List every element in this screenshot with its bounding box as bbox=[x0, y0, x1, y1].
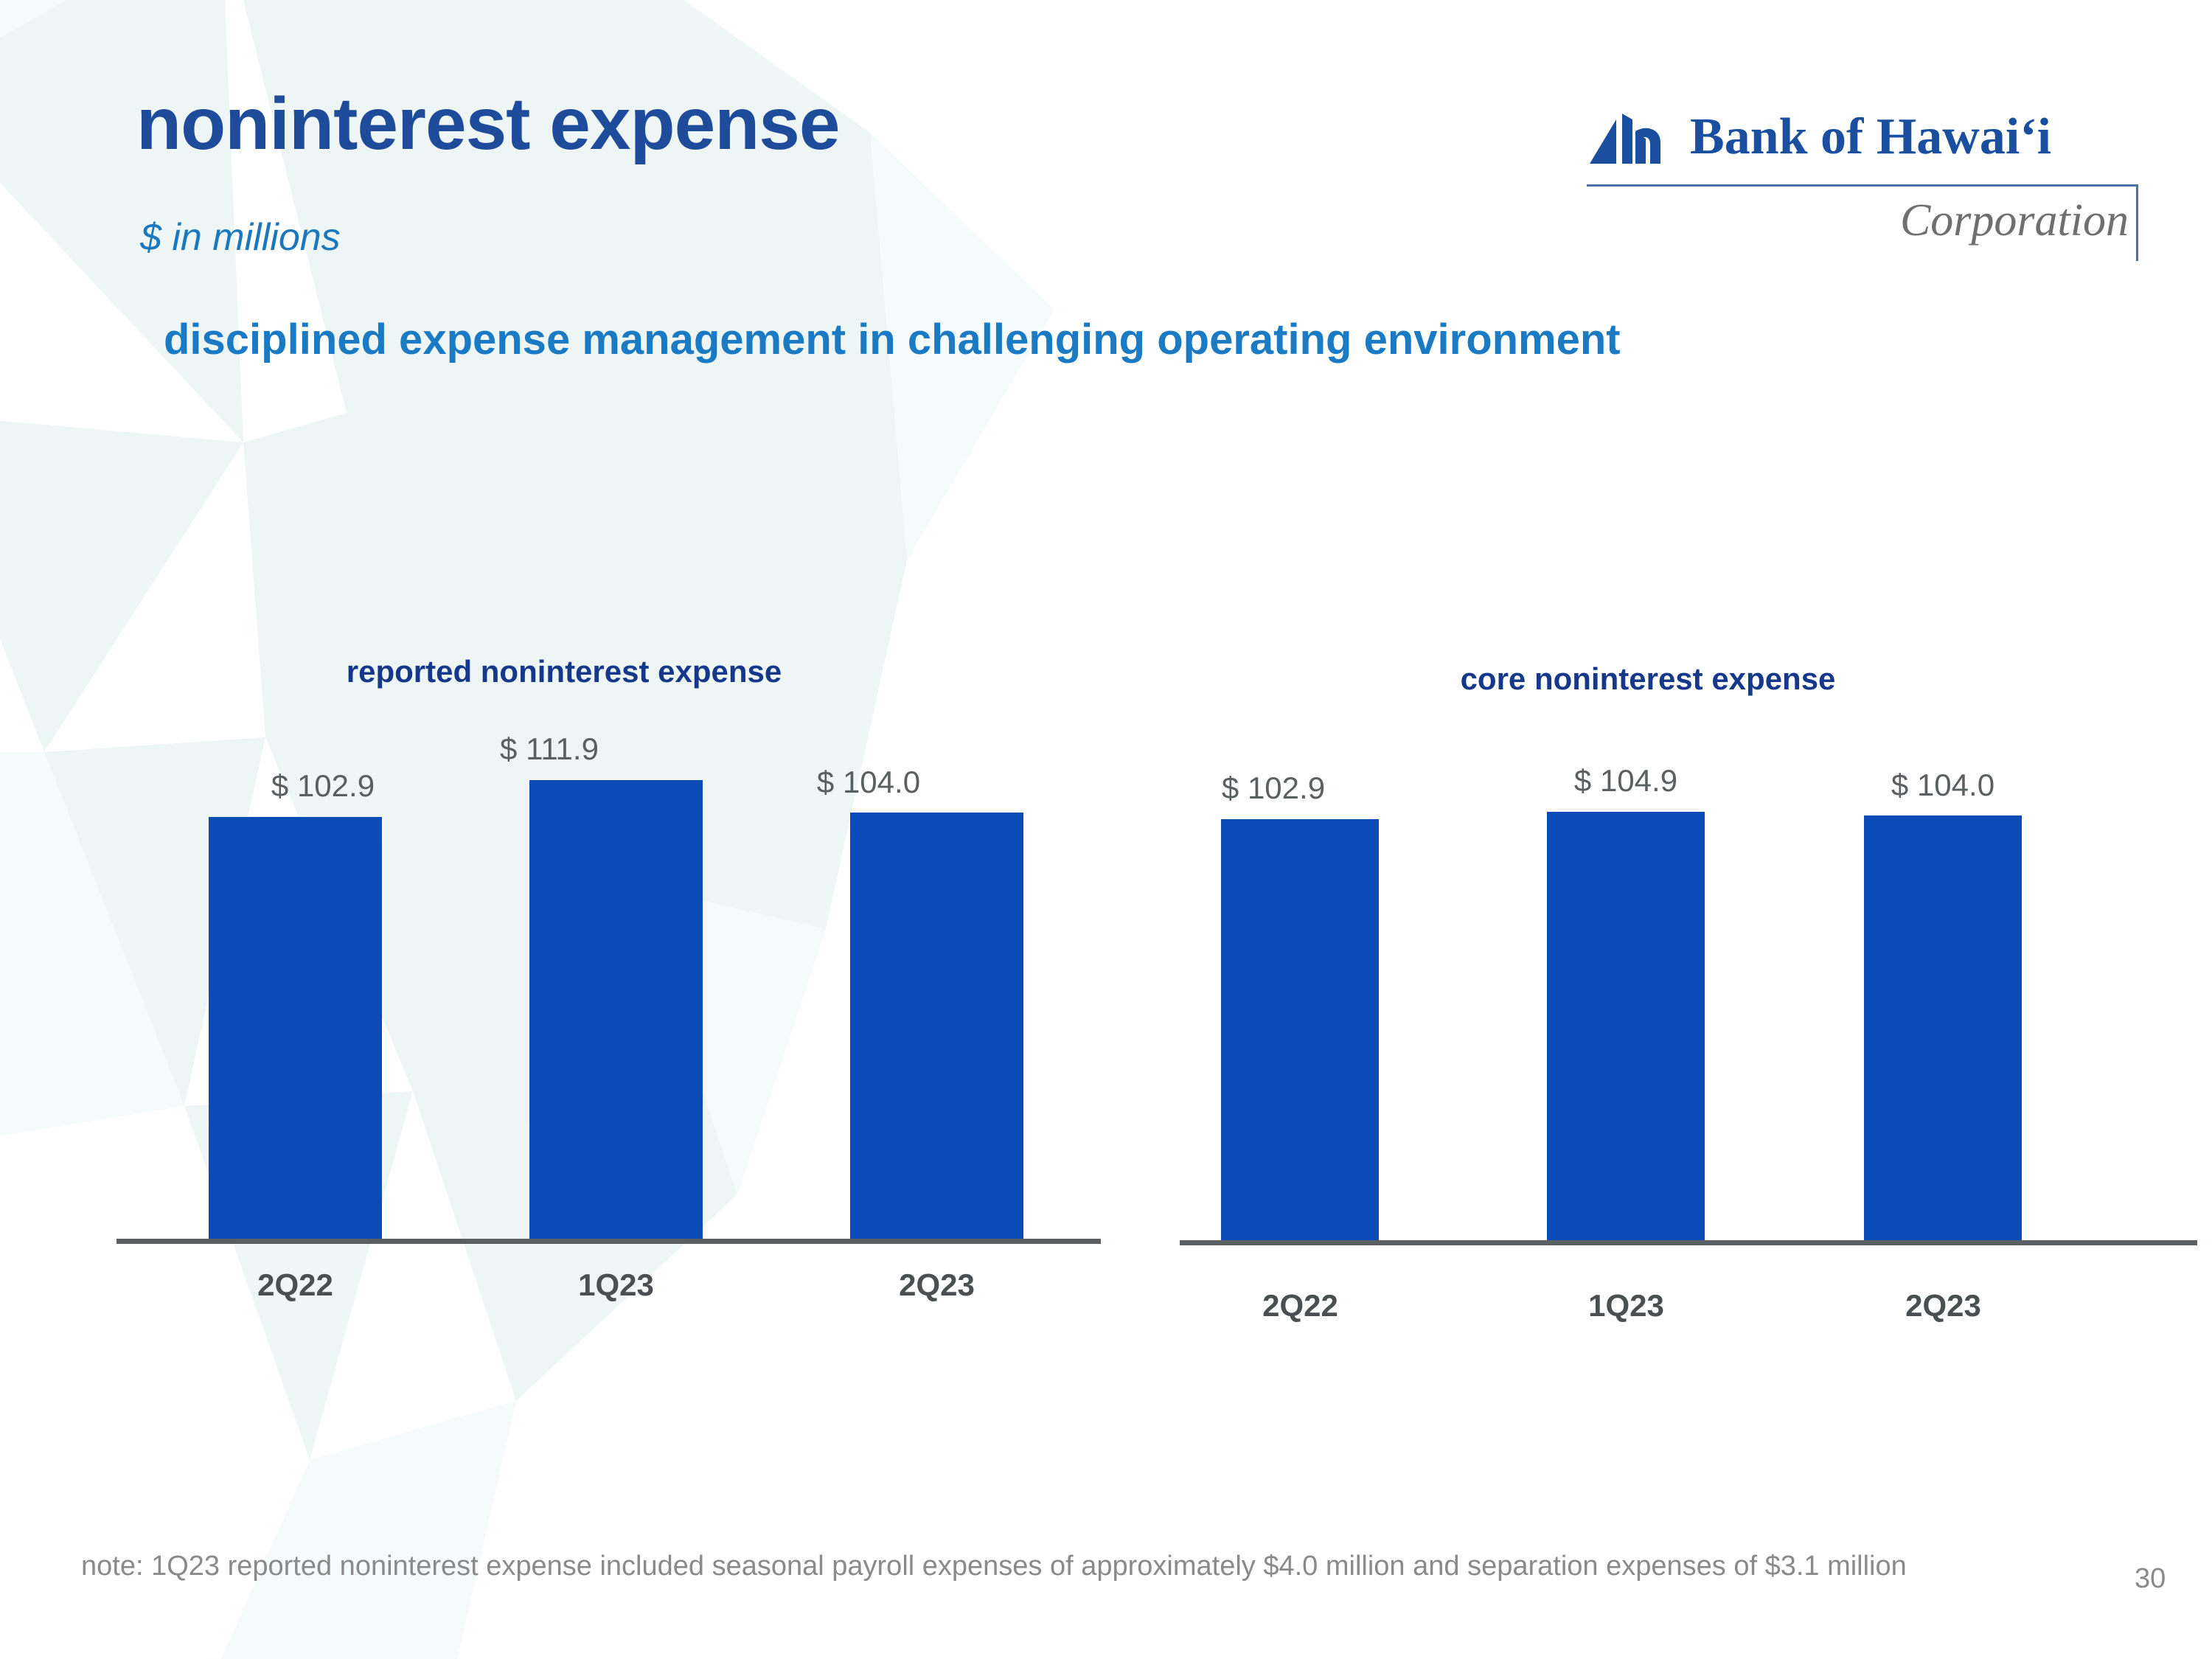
bar-2q22[interactable] bbox=[209, 817, 382, 1239]
bar-category-label: 1Q23 bbox=[522, 1270, 710, 1301]
bar-2q23[interactable] bbox=[850, 813, 1023, 1239]
plot-area: $ 102.9 2Q22 $ 104.9 1Q23 $ 104.0 2Q23 bbox=[1172, 664, 2205, 1298]
x-axis-line bbox=[116, 1239, 1101, 1244]
headline-text: disciplined expense management in challe… bbox=[164, 319, 1621, 361]
logo-wordmark: Bank of Hawaiʻi bbox=[1690, 108, 2051, 167]
bank-of-hawaii-logo: Bank of Hawaiʻi Corporation bbox=[1587, 108, 2147, 262]
x-axis-line bbox=[1180, 1240, 2197, 1245]
chart-core-noninterest-expense: core noninterest expense $ 102.9 2Q22 $ … bbox=[1172, 664, 2205, 1298]
page-number: 30 bbox=[2135, 1565, 2166, 1593]
bar-category-label: 2Q22 bbox=[1206, 1290, 1394, 1321]
bar-1q23[interactable] bbox=[1547, 812, 1705, 1240]
bar-category-label: 2Q22 bbox=[201, 1270, 389, 1301]
bar-2q22[interactable] bbox=[1221, 819, 1379, 1240]
bar-category-label: 1Q23 bbox=[1532, 1290, 1720, 1321]
plot-area: $ 102.9 2Q22 $ 111.9 1Q23 $ 104.0 2Q23 bbox=[111, 656, 1113, 1290]
bar-category-label: 2Q23 bbox=[843, 1270, 1031, 1301]
bank-of-hawaii-mark-icon bbox=[1587, 112, 1674, 170]
bar-2q23[interactable] bbox=[1864, 815, 2022, 1240]
bar-value-label: $ 111.9 bbox=[406, 734, 693, 765]
bar-value-label: $ 104.0 bbox=[1821, 770, 2065, 801]
bar-value-label: $ 102.9 bbox=[1152, 773, 1395, 804]
footnote-text: note: 1Q23 reported noninterest expense … bbox=[81, 1552, 1907, 1580]
bar-value-label: $ 104.9 bbox=[1504, 765, 1747, 796]
bar-value-label: $ 104.0 bbox=[725, 767, 1012, 798]
bar-value-label: $ 102.9 bbox=[201, 771, 445, 801]
bar-1q23[interactable] bbox=[529, 780, 703, 1239]
logo-subtitle: Corporation bbox=[1587, 195, 2129, 247]
logo-divider bbox=[1587, 184, 2138, 187]
page-title: noninterest expense bbox=[136, 87, 840, 161]
bar-category-label: 2Q23 bbox=[1849, 1290, 2037, 1321]
chart-reported-noninterest-expense: reported noninterest expense $ 102.9 2Q2… bbox=[111, 656, 1113, 1290]
logo-vertical-divider bbox=[2136, 184, 2138, 261]
units-label: $ in millions bbox=[140, 218, 341, 257]
